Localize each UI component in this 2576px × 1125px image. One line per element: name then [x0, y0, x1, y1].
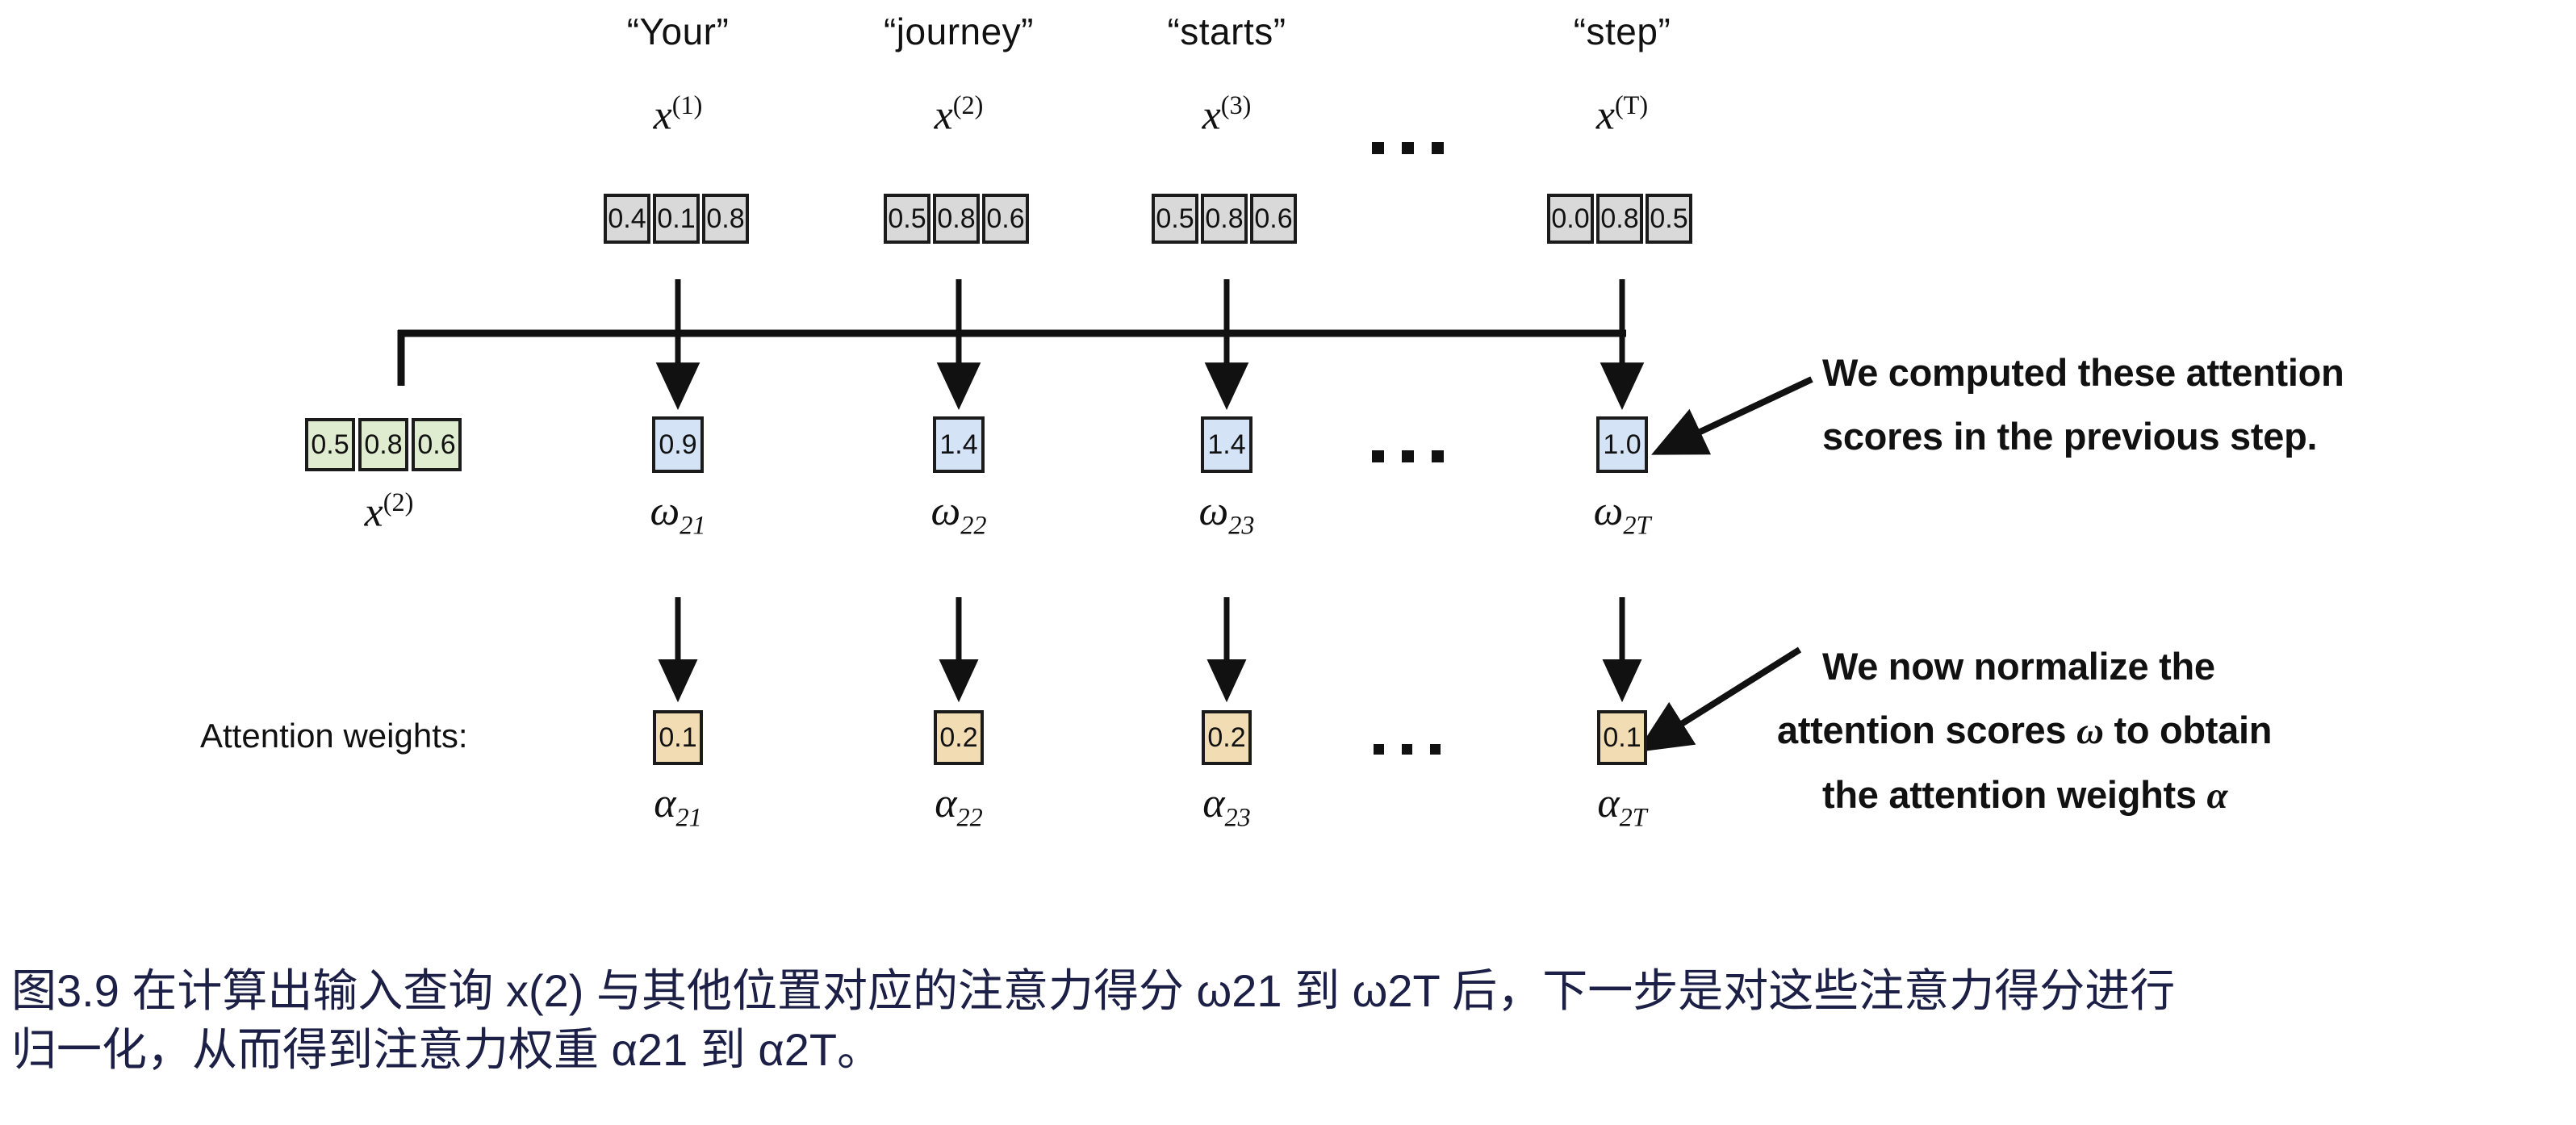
token-symbol-base-2: x [1202, 92, 1221, 138]
token-symbol-2: x(3) [1146, 90, 1307, 139]
alpha-subscript: 23 [1225, 802, 1251, 831]
callout-attention-weights: We now normalize the attention scores ω … [1777, 641, 2272, 822]
alpha-symbol: α [1597, 780, 1619, 826]
query-cell: 0.8 [358, 418, 408, 471]
attention-score-value: 0.9 [652, 416, 704, 473]
ellipsis-dot [1432, 450, 1444, 462]
embedding-vector-0: 0.4 0.1 0.8 [604, 194, 749, 244]
token-symbol-3: x(T) [1541, 90, 1703, 139]
ellipsis-dot [1372, 142, 1384, 154]
callout-attention-scores: We computed these attention scores in th… [1822, 347, 2344, 463]
token-word-3: “step” [1541, 10, 1703, 53]
token-word-1: “journey” [870, 10, 1048, 53]
embedding-vector-3: 0.0 0.8 0.5 [1547, 194, 1692, 244]
attention-weight-label-0: α21 [597, 780, 759, 832]
figure-canvas: “Your” “journey” “starts” “step” x(1) x(… [0, 0, 2576, 1125]
token-symbol-sup-3: (T) [1615, 90, 1648, 119]
ellipsis-dot [1374, 744, 1384, 755]
alpha-symbol: α [1202, 780, 1224, 826]
callout-weights-line2: attention scores ω to obtain [1777, 705, 2272, 758]
ellipsis-dot [1372, 450, 1384, 462]
omega-subscript: 21 [680, 510, 705, 539]
embedding-cell: 0.6 [982, 194, 1029, 244]
attention-weight-value: 0.1 [653, 710, 703, 765]
query-label-sup: (2) [383, 487, 414, 516]
embedding-cell: 0.8 [702, 194, 749, 244]
figure-caption: 图3.9 在计算出输入查询 x(2) 与其他位置对应的注意力得分 ω21 到 ω… [11, 962, 2570, 1080]
ellipsis-dot [1402, 142, 1414, 154]
token-symbol-base-3: x [1596, 92, 1615, 138]
callout-weights-line3: the attention weights α [1777, 769, 2272, 822]
token-word-0: “Your” [597, 10, 759, 53]
attention-weight-value: 0.1 [1597, 710, 1647, 765]
embedding-cell: 0.4 [604, 194, 650, 244]
alpha-subscript: 22 [957, 802, 983, 831]
token-symbol-0: x(1) [597, 90, 759, 139]
query-cell: 0.6 [412, 418, 462, 471]
token-symbol-base-1: x [935, 92, 953, 138]
attention-score-label-1: ω22 [878, 487, 1039, 540]
attention-weight-value: 0.2 [1202, 710, 1252, 765]
attention-score-label-3: ω2T [1541, 487, 1703, 540]
omega-symbol: ω [1199, 488, 1229, 534]
attention-score-value: 1.4 [1201, 416, 1252, 473]
callout-scores-line1: We computed these attention [1822, 347, 2344, 399]
token-symbol-base-0: x [654, 92, 672, 138]
alpha-symbol-inline: α [2206, 775, 2227, 817]
embedding-cell: 0.0 [1547, 194, 1594, 244]
embedding-cell: 0.5 [1646, 194, 1692, 244]
attention-score-box-0: 0.9 [652, 416, 704, 473]
embedding-cell: 0.8 [1596, 194, 1643, 244]
embedding-cell: 0.5 [884, 194, 930, 244]
callout-weights-line2-pre: attention scores [1777, 709, 2076, 751]
embedding-vector-1: 0.5 0.8 0.6 [884, 194, 1029, 244]
connector-lines [0, 0, 2576, 1125]
token-word-2: “starts” [1146, 10, 1307, 53]
callout-weights-line2-post: to obtain [2104, 709, 2272, 751]
attention-weight-value: 0.2 [934, 710, 984, 765]
omega-symbol-inline: ω [2076, 710, 2104, 752]
attention-weights-row-label: Attention weights: [200, 717, 468, 755]
token-symbol-sup-0: (1) [672, 90, 703, 119]
attention-score-value: 1.4 [933, 416, 985, 473]
attention-weight-label-2: α23 [1146, 780, 1307, 832]
embedding-cell: 0.8 [1201, 194, 1248, 244]
token-symbol-sup-1: (2) [953, 90, 984, 119]
callout-scores-line2: scores in the previous step. [1822, 411, 2344, 463]
token-symbol-1: x(2) [878, 90, 1039, 139]
attention-weight-label-1: α22 [878, 780, 1039, 832]
omega-symbol: ω [931, 488, 961, 534]
query-label-base: x [365, 489, 383, 535]
attention-score-box-3: 1.0 [1596, 416, 1648, 473]
ellipsis-score-row [1372, 450, 1444, 462]
callout-weights-line1: We now normalize the [1777, 641, 2272, 693]
caption-line-2: 归一化，从而得到注意力权重 α21 到 α2T。 [11, 1021, 2570, 1080]
attention-score-value: 1.0 [1596, 416, 1648, 473]
callout-weights-line3-pre: the attention weights [1822, 773, 2206, 816]
attention-score-label-0: ω21 [597, 487, 759, 540]
attention-weight-box-1: 0.2 [934, 710, 984, 765]
attention-weight-box-3: 0.1 [1597, 710, 1647, 765]
alpha-subscript: 21 [676, 802, 702, 831]
attention-score-box-1: 1.4 [933, 416, 985, 473]
ellipsis-dot [1402, 450, 1414, 462]
query-vector: 0.5 0.8 0.6 [305, 418, 462, 471]
omega-subscript: 23 [1228, 510, 1254, 539]
omega-symbol: ω [650, 488, 680, 534]
ellipsis-dot [1430, 744, 1441, 755]
query-cell: 0.5 [305, 418, 355, 471]
embedding-cell: 0.1 [653, 194, 700, 244]
attention-weight-label-3: α2T [1541, 780, 1703, 832]
ellipsis-weight-row [1374, 744, 1441, 755]
alpha-symbol: α [935, 780, 956, 826]
attention-weight-box-2: 0.2 [1202, 710, 1252, 765]
caption-line-1: 图3.9 在计算出输入查询 x(2) 与其他位置对应的注意力得分 ω21 到 ω… [11, 962, 2570, 1021]
attention-score-box-2: 1.4 [1201, 416, 1252, 473]
embedding-cell: 0.5 [1152, 194, 1198, 244]
token-symbol-sup-2: (3) [1221, 90, 1252, 119]
alpha-subscript: 2T [1620, 802, 1647, 831]
ellipsis-embedding-row [1372, 142, 1444, 154]
ellipsis-dot [1402, 744, 1412, 755]
query-label: x(2) [307, 487, 471, 536]
embedding-cell: 0.8 [933, 194, 980, 244]
omega-symbol: ω [1594, 488, 1624, 534]
omega-subscript: 22 [960, 510, 986, 539]
omega-subscript: 2T [1623, 510, 1650, 539]
alpha-symbol: α [654, 780, 675, 826]
embedding-vector-2: 0.5 0.8 0.6 [1152, 194, 1297, 244]
ellipsis-dot [1432, 142, 1444, 154]
attention-weight-box-0: 0.1 [653, 710, 703, 765]
attention-score-label-2: ω23 [1146, 487, 1307, 540]
embedding-cell: 0.6 [1250, 194, 1297, 244]
